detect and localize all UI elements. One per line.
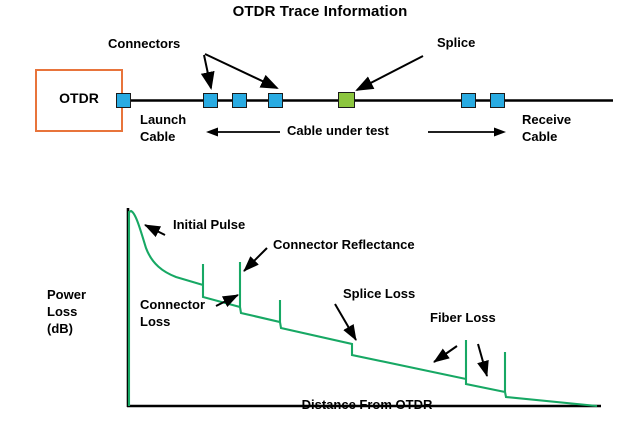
splice-loss-arrow [335,304,356,340]
otdr-trace-chart [0,0,640,431]
annotation-connector-loss-line2: Loss [140,315,170,330]
y-axis-label-line3: (dB) [47,322,73,337]
annotation-fiber-loss: Fiber Loss [430,311,496,326]
y-axis-label-line1: Power [47,288,86,303]
annotation-initial-pulse: Initial Pulse [173,218,245,233]
fiber-loss-arrow-1 [434,346,457,362]
annotation-splice-loss: Splice Loss [343,287,415,302]
y-axis-label-line2: Loss [47,305,77,320]
otdr-diagram-page: OTDR Trace Information OTDR [0,0,640,431]
annotation-connector-loss-line1: Connector [140,298,205,313]
x-axis-label: Distance From OTDR [262,398,472,413]
connector-reflectance-arrow [244,248,267,271]
initial-pulse-arrow [145,225,165,235]
fiber-loss-arrow-2 [478,344,487,376]
annotation-connector-reflectance: Connector Reflectance [273,238,415,253]
